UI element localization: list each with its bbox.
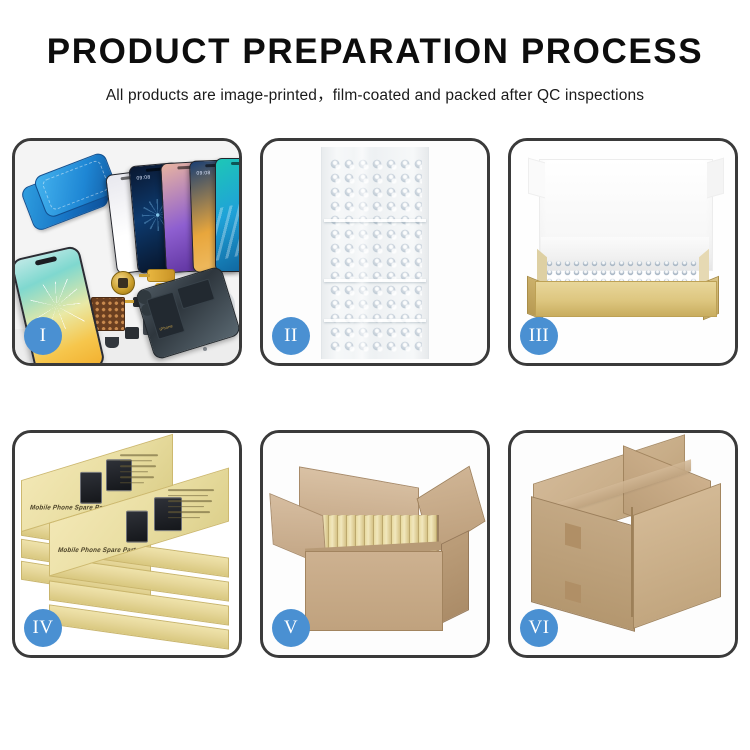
box-liner-icon <box>541 237 709 259</box>
header: PRODUCT PREPARATION PROCESS All products… <box>0 0 750 105</box>
page-title: PRODUCT PREPARATION PROCESS <box>0 34 750 71</box>
box-front-icon <box>535 281 717 317</box>
step-panel-6: VI <box>508 430 738 658</box>
page-subtitle: All products are image-printed，film-coat… <box>0 83 750 105</box>
bubble-wrap-icon <box>321 147 429 359</box>
carton-edge <box>631 507 633 617</box>
carton-tab-icon <box>565 523 581 550</box>
chip-part-icon <box>125 327 139 339</box>
step-badge-2: II <box>272 317 310 355</box>
wireless-coil-part-icon <box>111 271 135 295</box>
step-panel-5: V <box>260 430 490 658</box>
steps-grid: 09:08 09:08 iPhone <box>12 138 738 658</box>
phone-screen-icon <box>215 158 239 272</box>
step-panel-4: Mobile Phone Spare Parts Mobile Phone Sp… <box>12 430 242 658</box>
vibrator-part-icon <box>105 337 119 348</box>
step-badge-6: VI <box>520 609 558 647</box>
carton-front-face <box>305 551 443 631</box>
step-badge-1: I <box>24 317 62 355</box>
carton-side-right <box>441 530 469 624</box>
phone-display-fan: 09:08 09:08 <box>111 147 239 272</box>
step-badge-3: III <box>520 317 558 355</box>
step-badge-4: IV <box>24 609 62 647</box>
step-panel-2: II <box>260 138 490 366</box>
product-preparation-infographic: PRODUCT PREPARATION PROCESS All products… <box>0 0 750 750</box>
step-panel-3: III <box>508 138 738 366</box>
step-badge-5: V <box>272 609 310 647</box>
step-panel-1: 09:08 09:08 iPhone <box>12 138 242 366</box>
